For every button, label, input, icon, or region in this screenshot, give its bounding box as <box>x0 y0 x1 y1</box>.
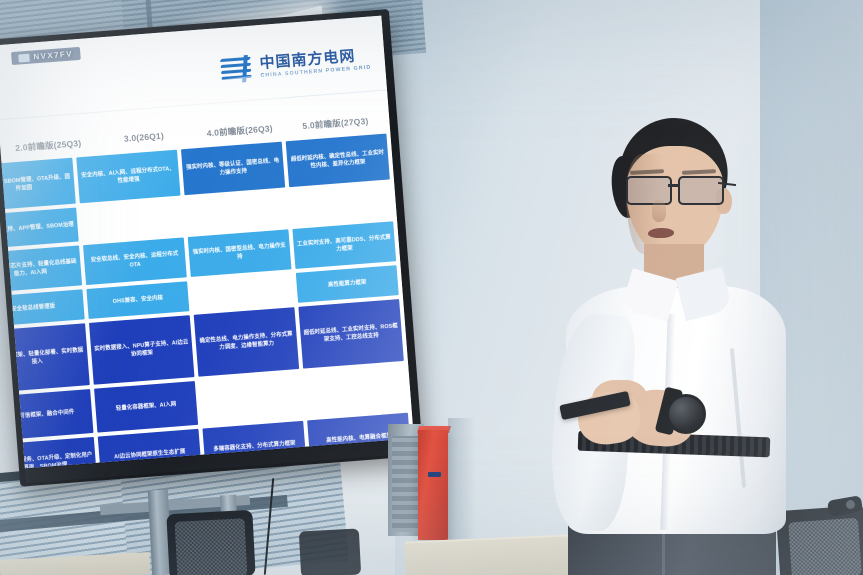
roadmap-column-header-3: 5.0前瞻版(27Q3) <box>287 114 384 133</box>
roadmap-cell-text: 国产芯片支持、APP管理、SBOM治理 <box>0 221 74 236</box>
roadmap-cell-text: 安全软总线、安全内核、远程分布式OTA <box>86 249 184 273</box>
eyeglass-bridge <box>668 184 680 187</box>
conference-room-photo: 中国南方电网 CHINA SOUTHERN POWER GRID 2.0前瞻版(… <box>0 0 863 575</box>
roadmap-cell-r2-c1: 安全软总线、安全内核、远程分布式OTA <box>83 237 187 285</box>
wall-corner-shadow <box>448 418 476 548</box>
roadmap-cell-text: 工业实时支持、高可靠DDS、分布式算力框架 <box>295 233 393 257</box>
roadmap-cell-text: 安全软总线管理版 <box>11 302 55 313</box>
camera-badge-icon <box>18 53 30 62</box>
equipment-rack-face <box>392 436 418 532</box>
roadmap-cell-text: 强实时内核、国密型总线、电力操作支持 <box>191 241 289 265</box>
red-cabinet <box>418 430 448 540</box>
roadmap-cell-text: 超低时延内核、确定性总线、工业实时性内核、差异化力框架 <box>289 149 387 173</box>
roadmap-cell-text: 国产控制器芯片支持、轻量化总线基础能力、AI入网 <box>0 257 79 281</box>
office-chair-left-mesh <box>175 518 248 575</box>
slide-brand-header: 中国南方电网 CHINA SOUTHERN POWER GRID <box>220 47 372 84</box>
eyeglasses-icon <box>624 176 728 202</box>
roadmap-cell-r1-c0: 国产芯片支持、APP管理、SBOM治理 <box>0 208 79 250</box>
eyeglass-lens-right <box>678 176 724 205</box>
roadmap-cell-text: 轻量化容器框架、AI入网 <box>116 400 177 413</box>
presenter <box>540 118 790 575</box>
presentation-slide: 中国南方电网 CHINA SOUTHERN POWER GRID 2.0前瞻版(… <box>0 16 414 469</box>
roadmap-cell-text: OHS兼容、安全内核 <box>112 294 163 306</box>
roadmap-cell-text: 超低时延总线、工业实时支持、ROS框架支持、工控总线支持 <box>302 322 400 346</box>
roadmap-cell-text: 安全内核、AI入网、远程分布式OTA、性能增强 <box>79 165 177 189</box>
roadmap-cell-r1-c3 <box>289 183 392 225</box>
roadmap-cell-r2-c2: 强实时内核、国密型总线、电力操作支持 <box>188 229 292 277</box>
header-divider <box>0 89 387 120</box>
roadmap-cell-r2-c0: 国产控制器芯片支持、轻量化总线基础能力、AI入网 <box>0 245 82 293</box>
roadmap-cell-r1-c2 <box>185 191 288 233</box>
roadmap-cell-r5-c1: 轻量化容器框架、AI入网 <box>94 381 198 433</box>
roadmap-cell-r1-c1 <box>80 200 183 242</box>
roadmap-cell-r0-c1: 安全内核、AI入网、远程分布式OTA、性能增强 <box>76 150 180 204</box>
roadmap-cell-r3-c1: OHS兼容、安全内核 <box>86 281 189 319</box>
roadmap-cell-r0-c3: 超低时延内核、确定性总线、工业实时性内核、差异化力框架 <box>286 134 390 188</box>
roadmap-cell-r3-c0: 安全软总线管理版 <box>0 289 85 327</box>
mesh-office-chair-knob <box>846 500 855 509</box>
camera-overlay-label: NVX7FV <box>33 49 73 61</box>
roadmap-cell-text: 高性能算力框架 <box>328 278 367 289</box>
roadmap-cell-r3-c2 <box>191 273 294 311</box>
roadmap-column-header-2: 4.0前瞻版(26Q3) <box>191 121 288 140</box>
roadmap-cell-r4-c1: 实时数据接入、NPU算子支持、AI边云协同框架 <box>89 315 194 385</box>
roadmap-cell-text: 确定性总线、电力操作支持、分布式算力调度、边缘智能算力 <box>197 330 295 354</box>
presenter-nose <box>652 200 666 222</box>
roadmap-column-header-0: 2.0前瞻版(25Q3) <box>0 136 97 155</box>
wristwatch-icon <box>666 394 706 434</box>
mesh-office-chair-back <box>788 518 862 575</box>
office-chair-far <box>299 528 361 575</box>
roadmap-column-header-1: 3.0(26Q1) <box>96 129 193 148</box>
roadmap-cell-r0-c0: 安全架构、SBOM管理、OTA升级、固件加固 <box>0 158 76 212</box>
roadmap-cell-text: 强实时内核、等级认证、国密总线、电力操作支持 <box>184 157 282 181</box>
eyeglass-lens-left <box>626 176 672 205</box>
roadmap-cell-r3-c3: 高性能算力框架 <box>296 265 399 303</box>
brand-text: 中国南方电网 CHINA SOUTHERN POWER GRID <box>259 48 371 80</box>
red-cabinet-label <box>428 472 441 477</box>
roadmap-cell-r4-c3: 超低时延总线、工业实时支持、ROS框架支持、工控总线支持 <box>298 299 403 369</box>
roadmap-cell-r2-c3: 工业实时支持、高可靠DDS、分布式算力框架 <box>292 221 396 269</box>
roadmap-cell-text: 安全架构、SBOM管理、OTA升级、固件加固 <box>0 173 73 197</box>
wall-display[interactable]: 中国南方电网 CHINA SOUTHERN POWER GRID 2.0前瞻版(… <box>0 9 423 487</box>
roadmap-cell-r0-c2: 强实时内核、等级认证、国密总线、电力操作支持 <box>181 142 285 196</box>
roadmap-cell-r4-c2: 确定性总线、电力操作支持、分布式算力调度、边缘智能算力 <box>194 307 299 377</box>
roadmap-matrix: 安全架构、SBOM管理、OTA升级、固件加固安全内核、AI入网、远程分布式OTA… <box>0 134 411 469</box>
display-screen[interactable]: 中国南方电网 CHINA SOUTHERN POWER GRID 2.0前瞻版(… <box>0 16 414 469</box>
roadmap-cell-text: 实时数据接入、NPU算子支持、AI边云协同框架 <box>93 338 191 362</box>
roadmap-cell-r5-c2 <box>199 373 303 425</box>
china-southern-power-grid-logo-icon <box>220 56 254 84</box>
roadmap-cell-r5-c3 <box>303 365 407 417</box>
